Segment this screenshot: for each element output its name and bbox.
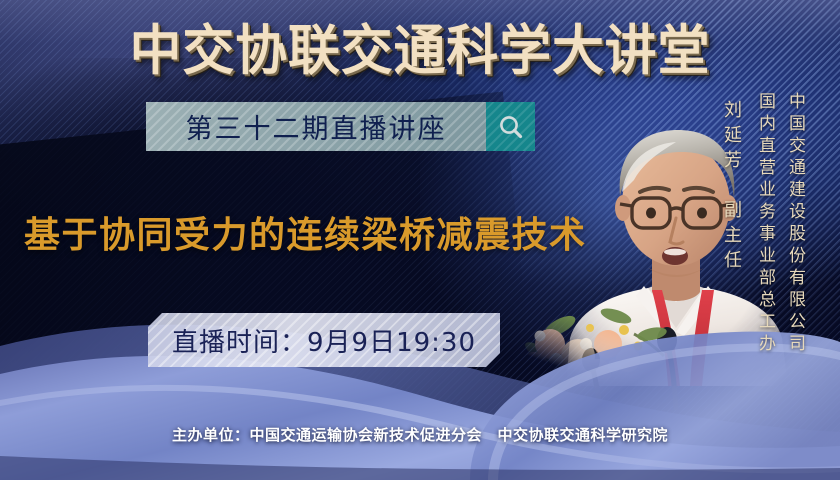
page-title: 中交协联交通科学大讲堂 — [17, 22, 823, 80]
search-button[interactable] — [486, 102, 535, 151]
topic-title: 基于协同受力的连续梁桥减震技术 — [24, 206, 587, 258]
session-band: 第三十二期直播讲座 — [146, 102, 486, 151]
speaker-department: 国内直营业务事业部总工办 — [756, 92, 773, 356]
search-icon — [498, 114, 524, 140]
speaker-company: 中国交通建设股份有限公司 — [786, 92, 803, 356]
broadcast-time-banner: 直播时间：9月9日19:30 — [148, 313, 500, 367]
organizer-line: 主办单位：中国交通运输协会新技术促进分会 中交协联交通科学研究院 — [0, 424, 840, 445]
webinar-poster: 中交协联交通科学大讲堂 第三十二期直播讲座 基于协同受力的连续梁桥减震技术 直播… — [0, 0, 840, 480]
session-band-label: 第三十二期直播讲座 — [186, 107, 447, 146]
broadcast-time-text: 直播时间：9月9日19:30 — [172, 322, 476, 359]
speaker-name: 刘延芳 副主任 — [722, 100, 740, 275]
